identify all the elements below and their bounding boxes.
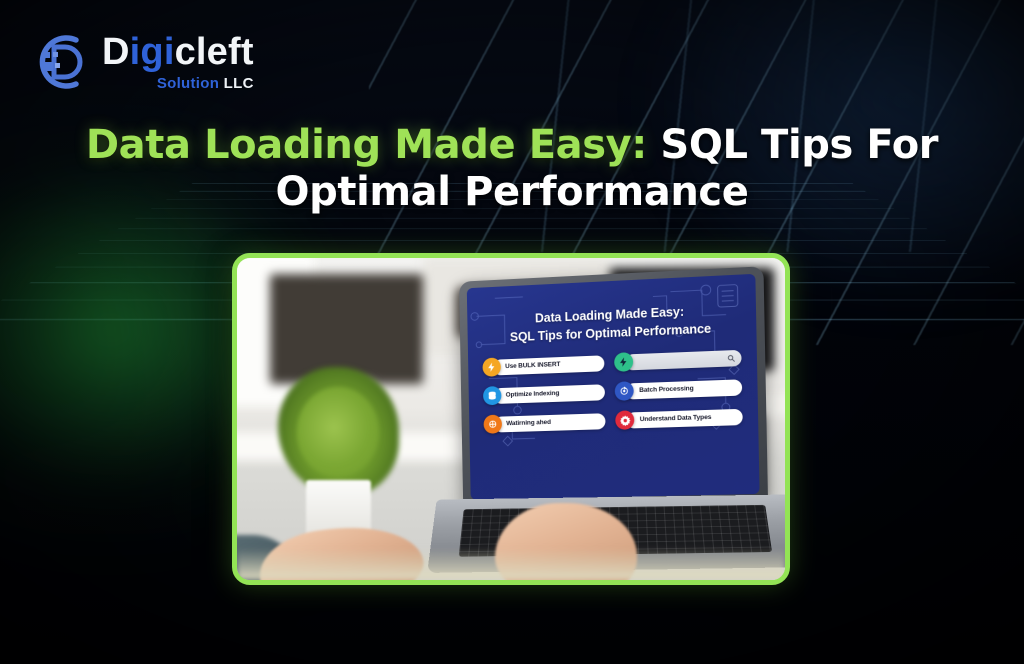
laptop-screen-title: Data Loading Made Easy: SQL Tips for Opt… bbox=[509, 303, 711, 347]
plant-leaves-highlight bbox=[297, 387, 379, 477]
brand-name-part2: igi bbox=[130, 31, 175, 73]
laptop-screen: Data Loading Made Easy: SQL Tips for Opt… bbox=[467, 274, 760, 501]
tip-item-understand-data-types[interactable]: Understand Data Types bbox=[616, 407, 744, 431]
magnifier-icon bbox=[727, 354, 735, 362]
page-title-green-segment: Data Loading Made Easy: bbox=[86, 122, 647, 168]
tip-pill-body: Use BULK INSERT bbox=[492, 355, 604, 375]
tip-label: Watirning ahed bbox=[506, 420, 551, 428]
tips-grid: Use BULK INSERT bbox=[482, 348, 743, 435]
tip-label: Batch Processing bbox=[639, 386, 694, 395]
hero-photo-card: Data Loading Made Easy: SQL Tips for Opt… bbox=[232, 253, 790, 585]
desk-foreground bbox=[237, 548, 785, 580]
tip-item-bulk-insert[interactable]: Use BULK INSERT bbox=[482, 353, 605, 378]
hero-photo: Data Loading Made Easy: SQL Tips for Opt… bbox=[237, 258, 785, 580]
brand-logo[interactable]: Digicleft Solution LLC bbox=[30, 28, 254, 96]
tip-pill-body: Optimize Indexing bbox=[493, 384, 605, 404]
brand-tagline: Solution LLC bbox=[102, 76, 254, 91]
tip-pill-body: Understand Data Types bbox=[626, 409, 743, 429]
brand-tagline-part1: Solution bbox=[157, 75, 219, 92]
laptop-screen-content: Data Loading Made Easy: SQL Tips for Opt… bbox=[467, 274, 760, 501]
page-title-line2: Optimal Performance bbox=[276, 169, 749, 215]
tip-item-warning[interactable]: Watirning ahed bbox=[483, 411, 606, 435]
tip-item-search[interactable] bbox=[614, 348, 742, 373]
tip-pill-body: Batch Processing bbox=[626, 379, 743, 399]
brand-name-part3: cleft bbox=[175, 31, 254, 73]
page-title: Data Loading Made Easy: SQL Tips For Opt… bbox=[0, 122, 1024, 216]
laptop-lid: Data Loading Made Easy: SQL Tips for Opt… bbox=[459, 266, 768, 509]
digicleft-logo-icon bbox=[30, 28, 94, 96]
brand-logo-text: Digicleft Solution LLC bbox=[102, 33, 254, 91]
page-title-white-segment: SQL Tips For bbox=[647, 122, 938, 168]
tip-label: Understand Data Types bbox=[640, 415, 712, 424]
tip-label: Optimize Indexing bbox=[506, 391, 560, 399]
brand-name-part1: D bbox=[102, 31, 130, 73]
tip-item-batch-processing[interactable]: Batch Processing bbox=[615, 377, 743, 402]
tip-pill-body: Watirning ahed bbox=[494, 413, 606, 432]
banner-root: Digicleft Solution LLC Data Loading Made… bbox=[0, 0, 1024, 664]
brand-tagline-part2: LLC bbox=[224, 75, 254, 92]
tip-label: Use BULK INSERT bbox=[505, 362, 560, 371]
tip-item-optimize-indexing[interactable]: Optimize Indexing bbox=[482, 382, 605, 406]
brand-name: Digicleft bbox=[102, 33, 254, 71]
search-input[interactable] bbox=[625, 350, 742, 371]
